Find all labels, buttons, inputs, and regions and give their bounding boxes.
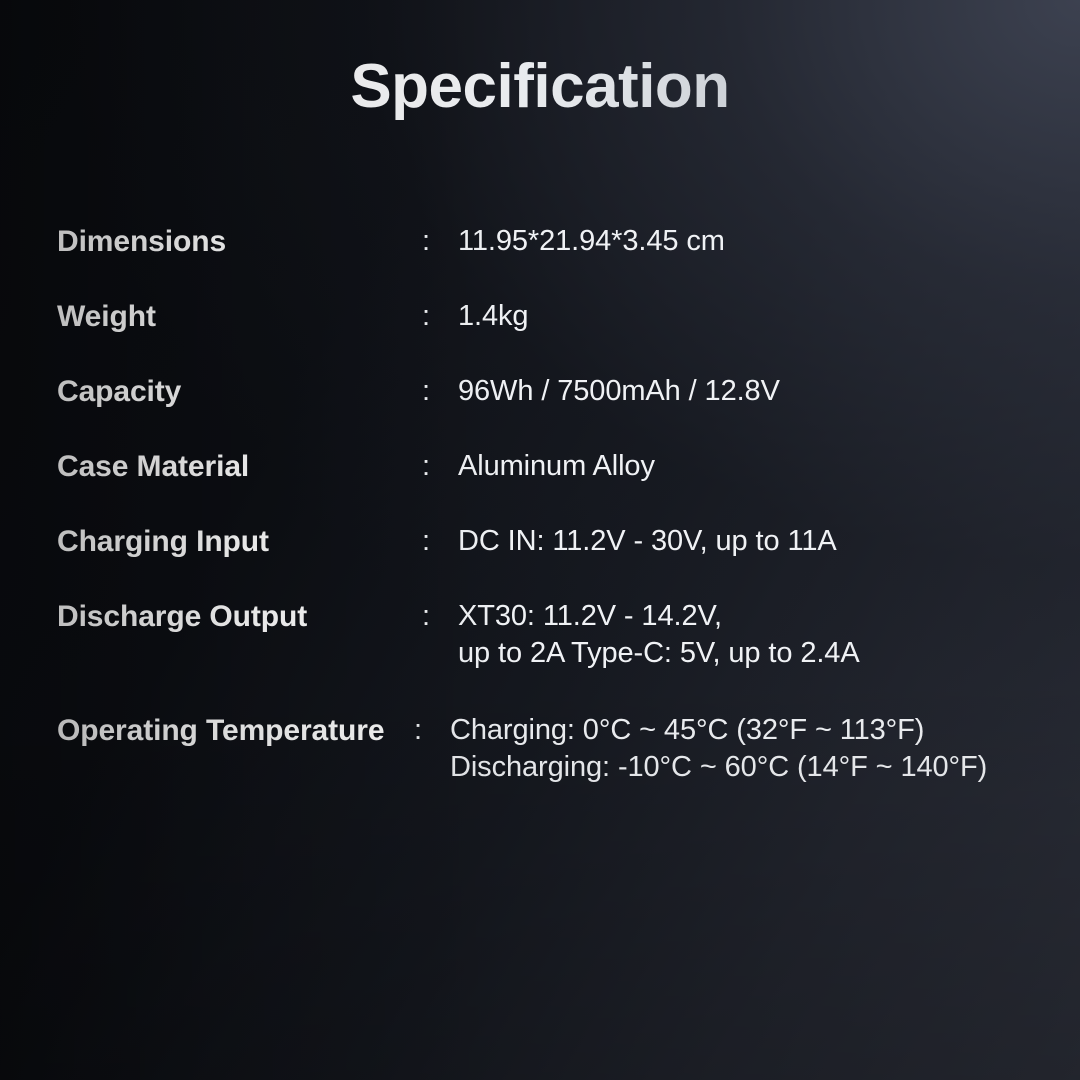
- spec-label-operating-temperature: Operating Temperature: [57, 712, 414, 749]
- spec-label-dimensions: Dimensions: [57, 223, 422, 260]
- spec-label-weight: Weight: [57, 298, 422, 335]
- page-title: Specification: [0, 50, 1080, 124]
- spec-value-line: Discharging: -10°C ~ 60°C (14°F ~ 140°F): [450, 749, 1047, 786]
- spec-label-capacity: Capacity: [57, 373, 422, 410]
- spec-row-weight: Weight : 1.4kg: [57, 298, 1047, 335]
- spec-row-dimensions: Dimensions : 11.95*21.94*3.45 cm: [57, 223, 1047, 260]
- spec-separator: :: [422, 223, 458, 260]
- spec-value-line: DC IN: 11.2V - 30V, up to 11A: [458, 523, 1047, 560]
- spec-label-case-material: Case Material: [57, 448, 422, 485]
- spec-separator: :: [422, 448, 458, 485]
- spec-row-capacity: Capacity : 96Wh / 7500mAh / 12.8V: [57, 373, 1047, 410]
- specification-page: Specification Dimensions : 11.95*21.94*3…: [0, 0, 1080, 1080]
- spec-value-line: Charging: 0°C ~ 45°C (32°F ~ 113°F): [450, 712, 1047, 749]
- spec-row-case-material: Case Material : Aluminum Alloy: [57, 448, 1047, 485]
- spec-row-discharge-output: Discharge Output : XT30: 11.2V - 14.2V, …: [57, 598, 1047, 672]
- spec-value-line: 96Wh / 7500mAh / 12.8V: [458, 373, 1047, 410]
- spec-value-discharge-output: XT30: 11.2V - 14.2V, up to 2A Type-C: 5V…: [458, 598, 1047, 672]
- spec-value-line: Aluminum Alloy: [458, 448, 1047, 485]
- spec-value-charging-input: DC IN: 11.2V - 30V, up to 11A: [458, 523, 1047, 560]
- spec-separator: :: [422, 373, 458, 410]
- spec-row-operating-temperature: Operating Temperature : Charging: 0°C ~ …: [57, 712, 1047, 786]
- spec-value-line: 11.95*21.94*3.45 cm: [458, 223, 1047, 260]
- spec-separator: :: [422, 298, 458, 335]
- spec-value-case-material: Aluminum Alloy: [458, 448, 1047, 485]
- spec-separator: :: [414, 712, 450, 749]
- spec-row-charging-input: Charging Input : DC IN: 11.2V - 30V, up …: [57, 523, 1047, 560]
- spec-value-weight: 1.4kg: [458, 298, 1047, 335]
- specification-table: Dimensions : 11.95*21.94*3.45 cm Weight …: [57, 223, 1047, 824]
- spec-label-discharge-output: Discharge Output: [57, 598, 422, 635]
- spec-separator: :: [422, 598, 458, 635]
- spec-value-operating-temperature: Charging: 0°C ~ 45°C (32°F ~ 113°F) Disc…: [450, 712, 1047, 786]
- spec-value-line: 1.4kg: [458, 298, 1047, 335]
- spec-label-charging-input: Charging Input: [57, 523, 422, 560]
- spec-value-capacity: 96Wh / 7500mAh / 12.8V: [458, 373, 1047, 410]
- spec-separator: :: [422, 523, 458, 560]
- spec-value-dimensions: 11.95*21.94*3.45 cm: [458, 223, 1047, 260]
- spec-value-line: XT30: 11.2V - 14.2V,: [458, 598, 1047, 635]
- spec-value-line: up to 2A Type-C: 5V, up to 2.4A: [458, 635, 1047, 672]
